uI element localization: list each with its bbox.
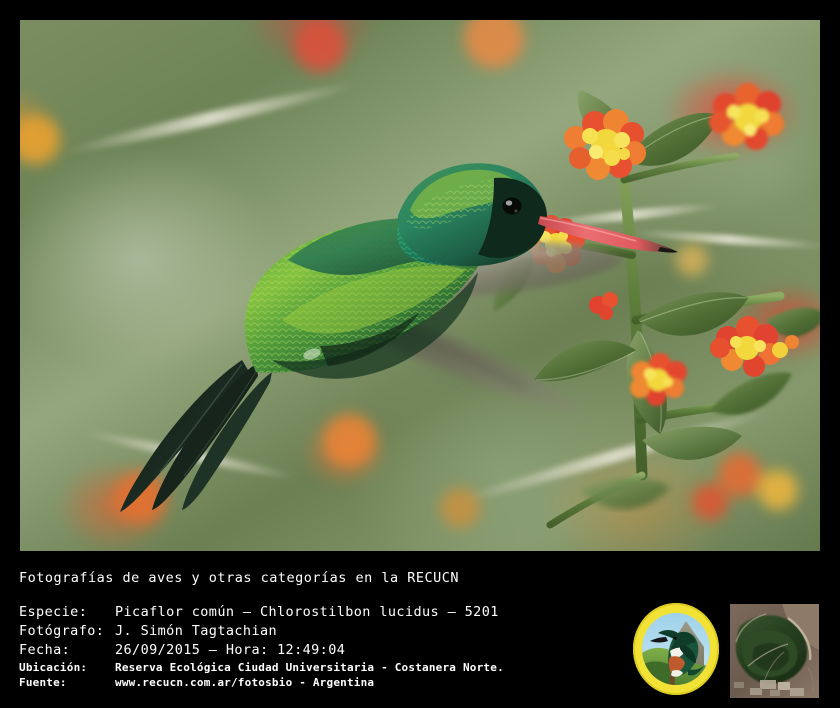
metadata-label-fuente: Fuente: — [19, 675, 115, 690]
metadata-row-especie: Especie: Picaflor común – Chlorostilbon … — [19, 603, 639, 622]
metadata-value-ubicacion: Reserva Ecológica Ciudad Universitaria -… — [115, 660, 504, 675]
metadata-value-fecha: 26/09/2015 – Hora: 12:49:04 — [115, 641, 345, 660]
metadata-value-especie: Picaflor común – Chlorostilbon lucidus –… — [115, 603, 499, 622]
tail — [120, 360, 272, 512]
metadata-row-fotografo: Fotógrafo: J. Simón Tagtachian — [19, 622, 639, 641]
badge-scene — [642, 613, 710, 685]
metadata-label-especie: Especie: — [19, 603, 115, 622]
head — [398, 163, 547, 266]
metadata-value-fuente: www.recucn.com.ar/fotosbio - Argentina — [115, 675, 374, 690]
kingfisher-illustration — [642, 613, 710, 685]
metadata-row-fecha: Fecha: 26/09/2015 – Hora: 12:49:04 — [19, 641, 639, 660]
metadata-list: Especie: Picaflor común – Chlorostilbon … — [19, 603, 639, 690]
aerial-satellite-image — [730, 604, 819, 698]
metadata-row-ubicacion: Ubicación: Reserva Ecológica Ciudad Univ… — [19, 660, 639, 675]
recucn-kingfisher-badge-icon — [633, 603, 719, 695]
metadata-label-ubicacion: Ubicación: — [19, 660, 115, 675]
metadata-value-fotografo: J. Simón Tagtachian — [115, 622, 277, 641]
metadata-label-fotografo: Fotógrafo: — [19, 622, 115, 641]
metadata-row-fuente: Fuente: www.recucn.com.ar/fotosbio - Arg… — [19, 675, 639, 690]
page-title: Fotografías de aves y otras categorías e… — [19, 570, 459, 586]
hummingbird — [20, 20, 820, 551]
reserva-aerial-photo-icon — [730, 604, 819, 698]
photograph — [20, 20, 820, 551]
metadata-label-fecha: Fecha: — [19, 641, 115, 660]
